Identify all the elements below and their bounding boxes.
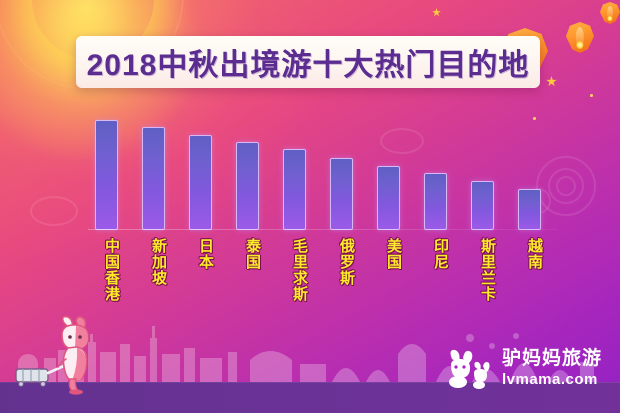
category-label-1: 中国香港 — [95, 238, 119, 302]
bar-fill — [471, 181, 494, 230]
title-panel: 2018中秋出境游十大热门目的地 — [76, 36, 540, 88]
cloud-swirl-icon — [556, 176, 576, 196]
bar-fill — [518, 189, 541, 230]
infographic-canvas: 2018中秋出境游十大热门目的地 中国香港新加坡日本泰国毛里求斯俄罗斯美国印尼斯… — [0, 0, 620, 413]
chart-baseline — [88, 229, 558, 230]
category-label-4: 泰国 — [236, 238, 260, 270]
category-label-8: 印尼 — [424, 238, 448, 270]
bar-fill — [330, 158, 353, 230]
category-label-5: 毛里求斯 — [283, 238, 307, 302]
category-label-10: 越南 — [518, 238, 542, 270]
bar-fill — [377, 166, 400, 230]
bar-fill — [142, 127, 165, 230]
brand-logo: 驴妈妈旅游 lvmama.com — [442, 345, 602, 391]
bar-fill — [189, 135, 212, 230]
sky-lantern-icon — [600, 2, 620, 24]
category-label-6: 俄罗斯 — [330, 238, 354, 286]
category-label-2: 新加坡 — [142, 238, 166, 286]
bar-fill — [424, 173, 447, 230]
brand-name-cn: 驴妈妈旅游 — [502, 349, 602, 368]
bar-fill — [283, 149, 306, 230]
category-label-7: 美国 — [377, 238, 401, 270]
category-label-9: 斯里兰卡 — [471, 238, 495, 302]
page-title: 2018中秋出境游十大热门目的地 — [87, 40, 530, 84]
brand-name-en: lvmama.com — [502, 372, 602, 387]
rabbit-logo-icon — [442, 347, 494, 389]
sparkle-dot-icon — [590, 94, 593, 97]
rabbit-mascot-with-suitcase-icon — [14, 315, 120, 395]
sky-lantern-icon — [566, 22, 594, 53]
star-icon — [432, 8, 441, 17]
bar-chart — [85, 110, 555, 230]
cloud-swirl-icon — [30, 196, 78, 226]
bar-fill — [95, 120, 118, 230]
category-label-3: 日本 — [189, 238, 213, 270]
bar-fill — [236, 142, 259, 230]
